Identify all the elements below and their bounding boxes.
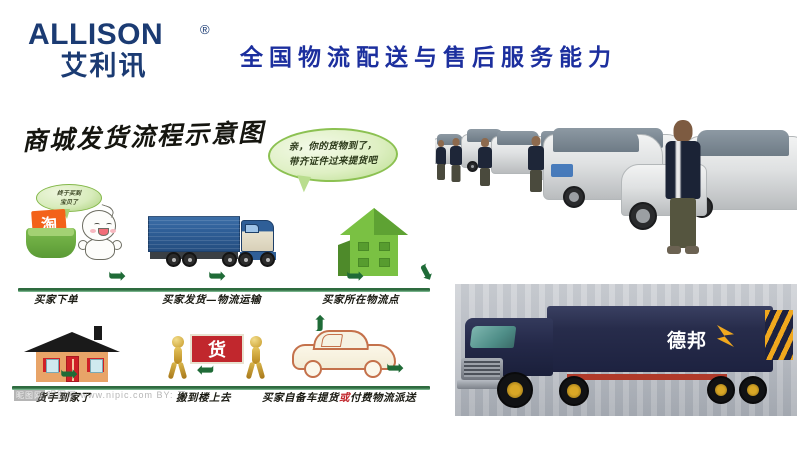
carrier-figure-right [246, 336, 266, 378]
buyer-mouth [98, 228, 109, 236]
fleet-vehicle-glass [553, 128, 639, 152]
staff-legs [480, 168, 490, 186]
staff-torso [478, 147, 492, 168]
staff-torso [436, 147, 446, 164]
truck-wheel [497, 372, 533, 408]
flow-arrow-icon: ➥ [196, 360, 214, 382]
self-pickup-part-1: 买家自备车提货 [262, 392, 339, 404]
truck-wheel [739, 376, 767, 404]
green-house-roof-shade [374, 208, 408, 235]
staff-shoe [667, 246, 681, 254]
house-roof [24, 332, 120, 352]
house-window [43, 358, 60, 372]
basket-rim [28, 228, 74, 236]
buyer-cheek-right [110, 229, 116, 233]
logo-chinese-text: 艾利讯 [28, 53, 180, 81]
fleet-vehicle-wheel [629, 202, 657, 230]
green-house-window [379, 258, 390, 267]
logo-latin-text: ALLISON [28, 20, 218, 50]
truck-hazard-stripes [765, 310, 793, 360]
carrier-leg [178, 362, 187, 380]
fleet-vehicle-wheel [563, 186, 585, 208]
cartoon-buyer-icon [78, 210, 124, 262]
car-wheel [304, 360, 322, 378]
slide-canvas: ALLISON ® 艾利讯 全国物流配送与售后服务能力 商城发货流程示意图 亲，… [0, 0, 800, 450]
speech-bubble-large-tail [295, 175, 311, 193]
shopping-basket-icon: 淘 [24, 208, 78, 260]
buyer-eye-left [94, 223, 100, 226]
truck-wheel [238, 252, 253, 267]
staff-person-foreground [665, 120, 701, 256]
staff-shoe [685, 246, 699, 254]
truck-wheel [707, 376, 735, 404]
truck-wheel [260, 252, 275, 267]
deppon-logo-text: 德邦 [667, 326, 707, 353]
fleet-vehicle-door-decal [551, 164, 573, 177]
car-wheel [364, 360, 382, 378]
staff-torso [528, 146, 544, 170]
company-logo: ALLISON ® 艾利讯 [28, 20, 218, 88]
flow-label-carry-upstairs: 搬到楼上去 [176, 390, 231, 405]
self-pickup-part-2: 付费物流派送 [350, 392, 416, 404]
flow-label-order: 买家下单 [34, 292, 78, 307]
staff-person [449, 138, 463, 182]
self-pickup-or: 或 [339, 392, 350, 404]
trailer-underbar [567, 374, 727, 380]
deppon-logistics-truck-photo: 德邦 [455, 284, 797, 416]
flow-label-self-pickup: 买家自备车提货或付费物流派送 [262, 390, 416, 405]
speech-bubble-line-1: 亲，你的货物到了， [289, 140, 377, 156]
flow-arrow-icon: ➥ [346, 266, 364, 288]
truck-windshield [470, 326, 517, 348]
service-fleet-photo [435, 112, 797, 272]
staff-legs [437, 164, 445, 180]
speech-bubble-large: 亲，你的货物到了， 带齐证件过来提货吧 [268, 127, 399, 183]
flow-diagram-title: 商城发货流程示意图 [21, 113, 265, 158]
truck-wheel [182, 252, 197, 267]
truck-grille [461, 358, 503, 380]
truck-trailer-body [547, 306, 773, 372]
staff-person [527, 136, 545, 192]
flow-label-delivered-home: 货手到家了 [36, 390, 91, 405]
truck-window [245, 224, 259, 233]
green-house-window [358, 242, 369, 251]
staff-head [438, 140, 444, 147]
carrier-leg [246, 362, 255, 380]
truck-wheel [559, 376, 589, 406]
staff-torso [450, 146, 462, 165]
buyer-eye-right [106, 223, 112, 226]
truck-trailer-texture [148, 216, 240, 252]
staff-head [532, 136, 541, 146]
staff-legs [452, 165, 461, 182]
staff-legs [530, 170, 542, 192]
buyer-body [85, 238, 115, 260]
fleet-vehicle-glass [697, 130, 789, 156]
buyer-cheek-left [90, 229, 96, 233]
staff-torso [666, 141, 701, 199]
staff-head [674, 120, 693, 142]
staff-head [453, 138, 460, 146]
flow-arrow-icon: ➥ [208, 266, 226, 288]
carrier-leg [256, 362, 265, 380]
sketch-car-icon [292, 330, 396, 380]
green-house-window [379, 242, 390, 251]
flow-arrow-icon: ➥ [60, 364, 78, 386]
flow-label-logistics-point: 买家所在物流点 [322, 292, 399, 307]
staff-person [477, 138, 493, 186]
slide-title: 全国物流配送与售后服务能力 [240, 38, 760, 72]
cargo-carriers-icon: 货 [166, 328, 268, 382]
flow-arrow-icon: ➥ [310, 314, 332, 332]
speech-bubble-line-2: 带齐证件过来提货吧 [289, 154, 377, 170]
house-window [87, 358, 104, 372]
carrier-figure-left [168, 336, 188, 378]
car-window [321, 334, 343, 347]
flow-label-ship: 买家发货—物流运输 [162, 292, 261, 307]
staff-head [481, 138, 489, 147]
staff-legs [670, 198, 696, 248]
staff-person [435, 140, 447, 180]
flow-arrow-icon: ➥ [386, 358, 404, 380]
registered-trademark-icon: ® [200, 22, 210, 37]
flow-arrow-icon: ➥ [108, 266, 126, 288]
carrier-leg [168, 362, 177, 380]
speech-bubble-small-text: 终于买到 宝贝了 [57, 189, 81, 207]
truck-wheel [166, 252, 181, 267]
